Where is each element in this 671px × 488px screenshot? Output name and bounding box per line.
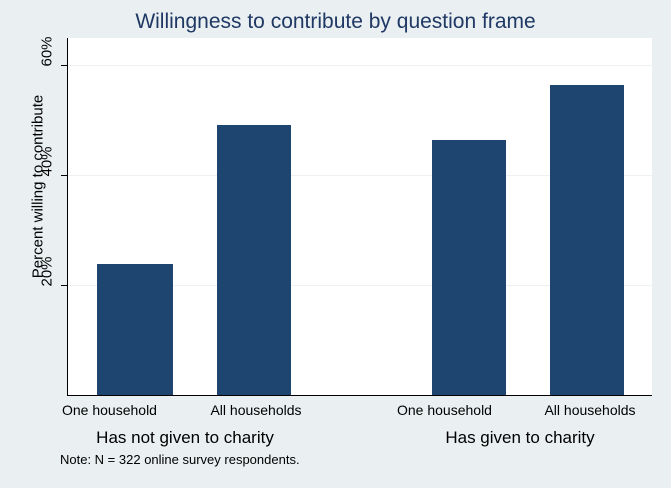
y-tick-label-20: 20%: [39, 249, 56, 295]
x-tick-label-group1-all-households: All households: [208, 402, 304, 418]
y-axis-line: [67, 38, 68, 396]
x-tick-label-group2-all-households: All households: [542, 402, 638, 418]
chart-note: Note: N = 322 online survey respondents.: [60, 452, 300, 467]
bar-group1-all-households[interactable]: [217, 125, 291, 395]
group-label-has-given: Has given to charity: [400, 428, 640, 448]
plot-area: [67, 38, 652, 395]
bar-group2-one-household[interactable]: [432, 140, 506, 395]
chart-title: Willingness to contribute by question fr…: [0, 10, 671, 34]
x-tick-label-group2-one-household: One household: [397, 402, 487, 418]
y-tick-label-40: 40%: [39, 139, 56, 185]
gridline-60: [67, 65, 652, 66]
x-axis-line: [67, 395, 652, 396]
group-label-has-not-given: Has not given to charity: [60, 428, 310, 448]
y-tick-label-60: 60%: [39, 29, 56, 75]
chart-figure: Willingness to contribute by question fr…: [0, 0, 671, 488]
bar-group2-all-households[interactable]: [550, 85, 624, 395]
x-tick-label-group1-one-household: One household: [62, 402, 152, 418]
bar-group1-one-household[interactable]: [97, 264, 173, 395]
